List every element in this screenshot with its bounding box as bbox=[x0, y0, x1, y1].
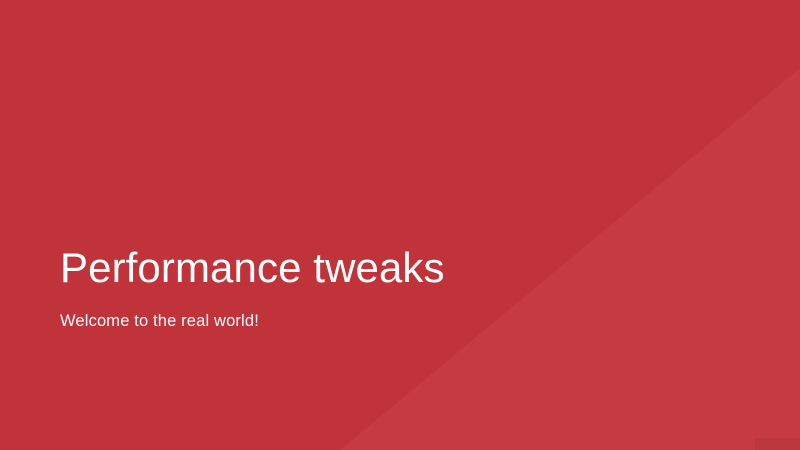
slide-text-block: Performance tweaks Welcome to the real w… bbox=[60, 243, 700, 332]
diagonal-accent-wedge bbox=[0, 0, 800, 450]
slide-title: Performance tweaks bbox=[60, 243, 700, 293]
footer-placeholder-patch bbox=[755, 438, 800, 450]
slide-subtitle: Welcome to the real world! bbox=[60, 293, 700, 332]
presentation-slide: Performance tweaks Welcome to the real w… bbox=[0, 0, 800, 450]
